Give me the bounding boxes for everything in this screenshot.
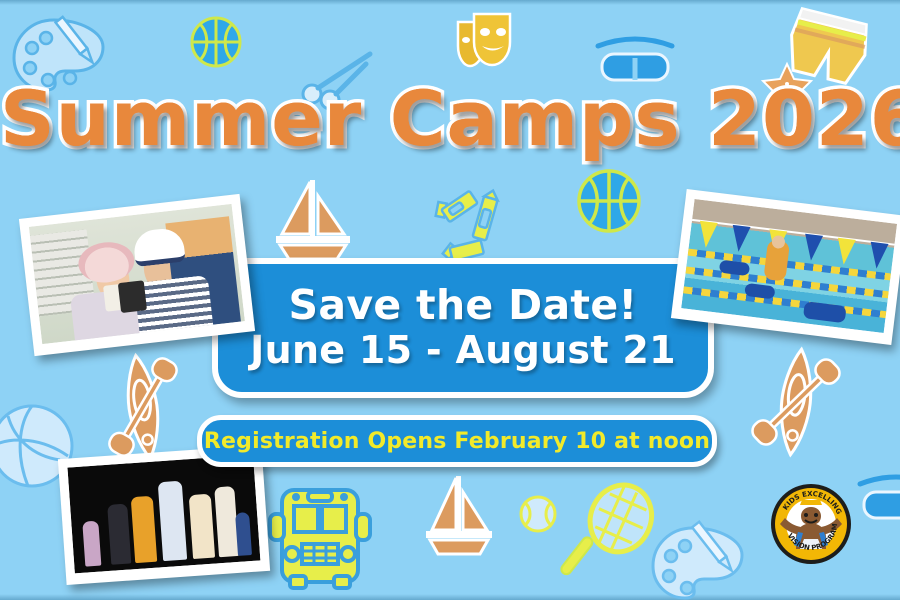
sailboat-icon (266, 178, 360, 266)
page-title: Summer Camps 2026 (0, 74, 900, 163)
banner-line-1: Save the Date! (289, 285, 638, 327)
top-edge-gradient (0, 0, 900, 5)
tennis-ball-icon (518, 494, 558, 534)
kayak-icon (756, 346, 836, 458)
photo-swim-lessons (671, 189, 900, 345)
banner-line-2: June 15 - August 21 (250, 330, 676, 371)
summer-camps-poster: Summer Camps 2026 Summer Camps 2026 (0, 0, 900, 600)
swim-trunks-icon (786, 8, 870, 84)
recreation-program-logo: KIDS EXCELLING VISION PROGRAMS (770, 483, 852, 565)
swim-goggles-icon (856, 470, 900, 526)
theater-masks-icon (448, 6, 520, 78)
basketball-icon (574, 166, 644, 236)
paint-palette-icon (646, 522, 756, 600)
kayak-icon (104, 352, 182, 462)
save-the-date-banner: Save the Date! June 15 - August 21 (212, 258, 714, 398)
basketball-icon (188, 14, 244, 70)
bottom-edge-gradient (0, 594, 900, 600)
photo-arts-and-crafts (19, 194, 255, 356)
school-bus-icon (268, 480, 372, 592)
tennis-racket-icon (556, 478, 656, 596)
sailboat-icon (418, 476, 500, 562)
registration-text: Registration Opens February 10 at noon (204, 429, 710, 454)
registration-notice: Registration Opens February 10 at noon (197, 415, 717, 467)
